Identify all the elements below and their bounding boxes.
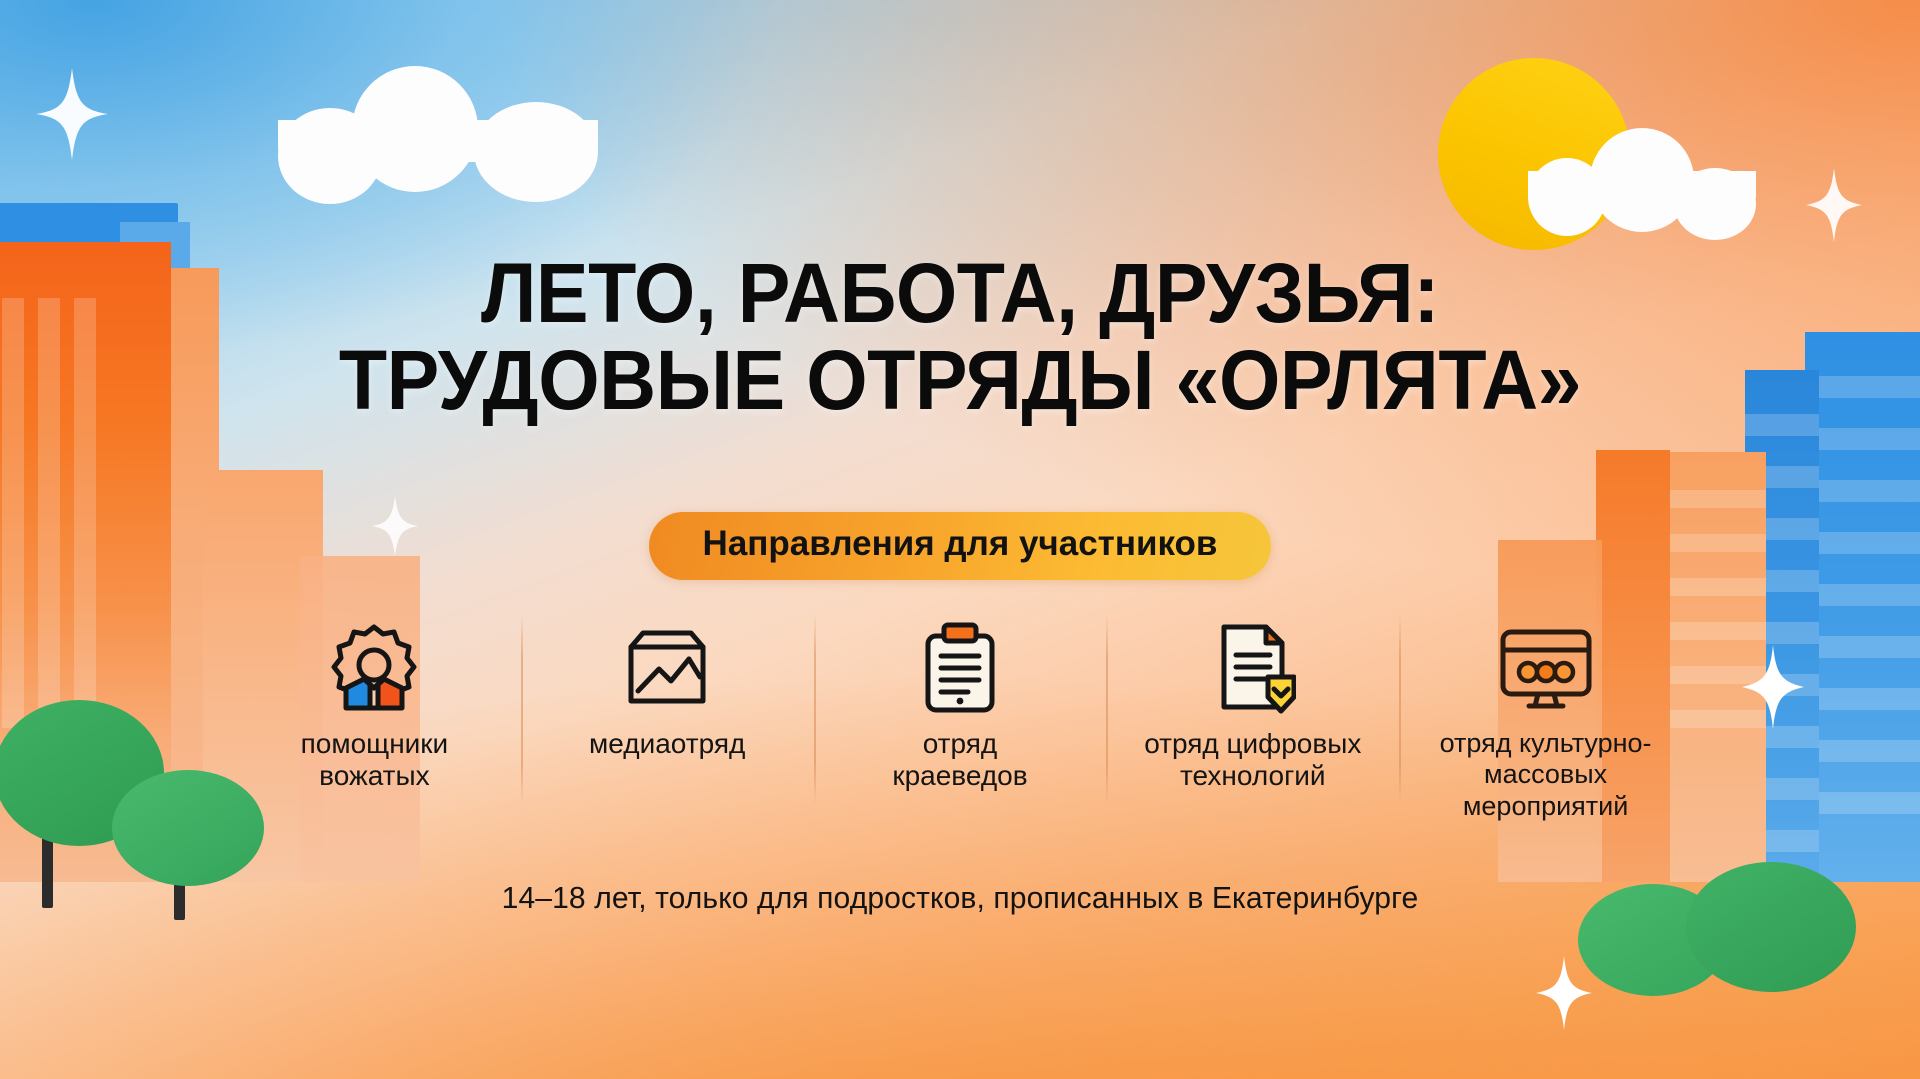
direction-card-local-history[interactable]: отрядкраеведов	[814, 622, 1107, 793]
direction-label: отряд цифровыхтехнологий	[1144, 728, 1361, 793]
headline-line-1: ЛЕТО, РАБОТА, ДРУЗЬЯ:	[58, 250, 1863, 337]
clipboard-icon	[920, 622, 1000, 714]
direction-card-culture-events[interactable]: отряд культурно-массовыхмероприятий	[1399, 622, 1692, 822]
document-check-icon	[1210, 622, 1296, 714]
direction-label: помощникивожатых	[301, 728, 449, 793]
headline-line-2: ТРУДОВЫЕ ОТРЯДЫ «ОРЛЯТА»	[58, 337, 1863, 424]
photo-frame-icon	[621, 622, 713, 714]
eligibility-note: 14–18 лет, только для подростков, пропис…	[29, 880, 1891, 916]
monitor-dots-icon	[1495, 622, 1597, 714]
direction-label: отряд культурно-массовыхмероприятий	[1440, 728, 1652, 822]
poster-banner: ЛЕТО, РАБОТА, ДРУЗЬЯ: ТРУДОВЫЕ ОТРЯДЫ «О…	[0, 0, 1920, 1079]
mentor-badge-icon	[326, 622, 422, 714]
direction-label: отрядкраеведов	[892, 728, 1027, 793]
directions-list: помощникивожатых медиаотряд	[228, 622, 1692, 862]
direction-label: медиаотряд	[589, 728, 745, 760]
direction-card-digital[interactable]: отряд цифровыхтехнологий	[1106, 622, 1399, 793]
page-title: ЛЕТО, РАБОТА, ДРУЗЬЯ: ТРУДОВЫЕ ОТРЯДЫ «О…	[58, 250, 1863, 423]
direction-card-mentor-helpers[interactable]: помощникивожатых	[228, 622, 521, 793]
directions-pill-badge: Направления для участников	[649, 512, 1272, 580]
direction-card-media[interactable]: медиаотряд	[521, 622, 814, 760]
